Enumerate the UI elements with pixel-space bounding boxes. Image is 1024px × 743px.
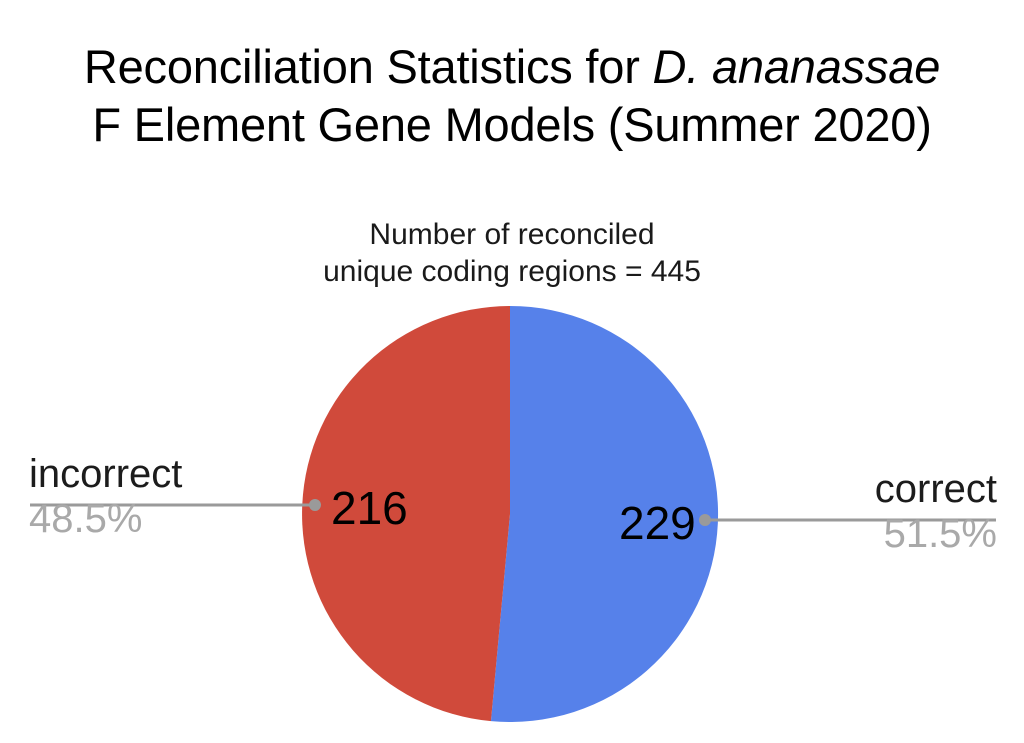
callout-correct-label: correct — [697, 467, 997, 511]
pie-slice-value-incorrect: 216 — [331, 485, 408, 531]
callout-correct-percent: 51.5% — [697, 511, 997, 557]
pie-chart: 216 229 — [0, 0, 1024, 743]
callout-incorrect-percent: 48.5% — [29, 496, 329, 542]
pie-slice-value-correct: 229 — [619, 500, 696, 546]
slide-canvas: Reconciliation Statistics for D. ananass… — [0, 0, 1024, 743]
pie-chart-svg — [0, 0, 1024, 743]
callout-incorrect[interactable]: incorrect 48.5% — [29, 452, 329, 542]
callout-incorrect-label: incorrect — [29, 452, 329, 496]
callout-correct[interactable]: correct 51.5% — [697, 467, 997, 557]
